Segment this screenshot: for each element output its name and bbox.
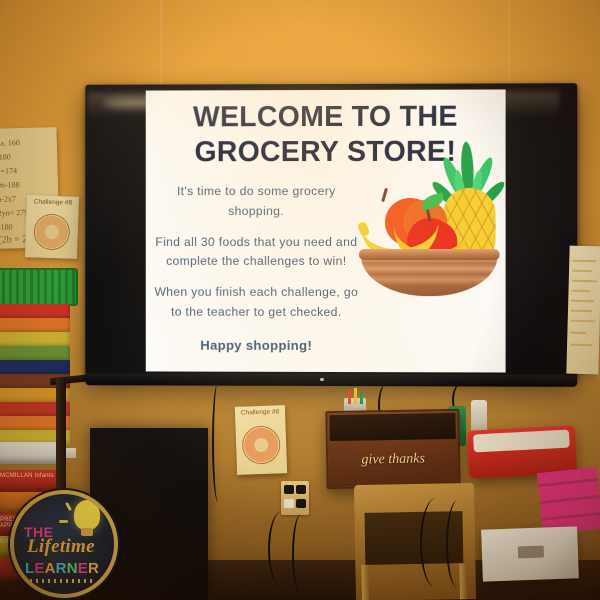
pink-sticky-notes <box>537 467 600 535</box>
plug <box>284 499 294 508</box>
presentation-slide: WELCOME TO THE GROCERY STORE! It's time … <box>146 89 506 372</box>
tv-power-cable <box>212 382 224 502</box>
tv-bottom-bezel <box>85 373 577 387</box>
green-storage-basket <box>0 268 78 306</box>
plug <box>296 499 306 508</box>
give-thanks-sign: give thanks <box>328 451 458 469</box>
the-lifetime-learner-logo: THE Lifetime LEARNER <box>10 490 118 598</box>
outlet-cable <box>292 514 310 594</box>
challenge-card-label: Challenge #8 <box>235 408 285 417</box>
logo-line-lifetime: Lifetime <box>27 536 95 558</box>
donut-icon <box>33 213 70 250</box>
apple-stem <box>381 188 388 202</box>
bin-contents <box>473 430 570 453</box>
plug <box>284 485 294 494</box>
wall-mounted-tv[interactable]: WELCOME TO THE GROCERY STORE! It's time … <box>85 83 577 381</box>
wall-power-outlet <box>281 481 309 515</box>
white-book <box>481 526 579 581</box>
power-led-indicator <box>320 378 324 381</box>
logo-line-learner: LEARNER <box>25 560 99 577</box>
book-title: MCMILLAN Infants <box>0 473 54 479</box>
slide-paragraph: It's time to do some grocery shopping. <box>152 182 361 222</box>
challenge-card-wall: Challenge #8 <box>25 195 79 259</box>
wall-posted-paper <box>566 246 600 375</box>
bowl-rim <box>359 249 500 260</box>
fruit-bowl-illustration <box>359 118 500 299</box>
donut-icon <box>242 425 281 464</box>
slide-body: It's time to do some grocery shopping. F… <box>152 182 361 323</box>
logo-dot-divider <box>30 579 92 583</box>
book-spine: MCMILLAN Infants <box>0 470 60 492</box>
shelf-paper-stack <box>0 442 60 464</box>
wooden-crate: give thanks <box>325 409 460 489</box>
challenge-card-desk[interactable]: Challenge #8 <box>235 405 287 475</box>
lightbulb-icon <box>74 500 100 530</box>
floor-cable <box>446 500 470 588</box>
plug <box>296 485 306 494</box>
classroom-photo-scene: lla. 160 -180 x=174 9n-188 n-2x7 2yn= 27… <box>0 0 600 600</box>
book-cover-graphic <box>518 546 544 559</box>
challenge-card-label: Challenge #8 <box>27 198 79 207</box>
slide-closing-text: Happy shopping! <box>152 338 361 353</box>
slide-paragraph: When you finish each challenge, go to th… <box>152 283 361 323</box>
crate-interior <box>329 413 455 441</box>
outlet-cable <box>268 512 294 586</box>
slide-paragraph: Find all 30 foods that you need and comp… <box>152 233 361 273</box>
